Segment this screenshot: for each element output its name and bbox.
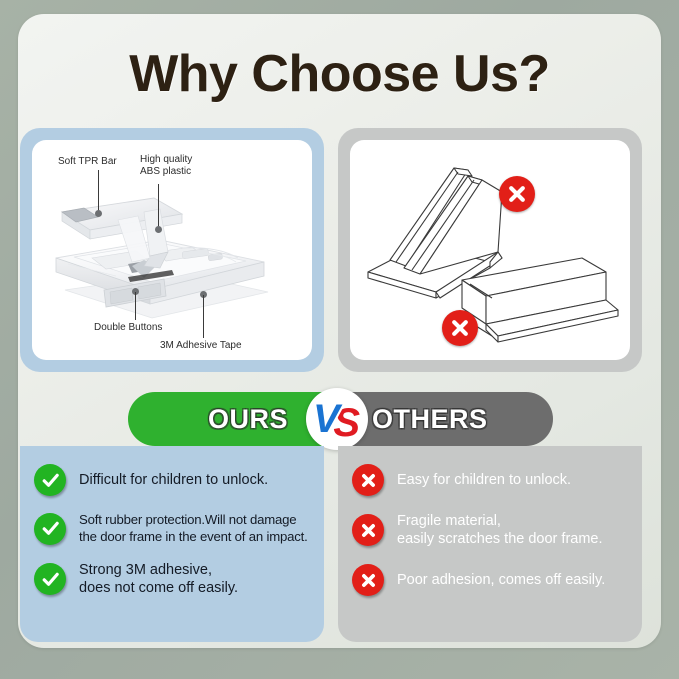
x-circle-icon (352, 464, 384, 496)
list-item: Easy for children to unlock. (338, 464, 642, 496)
list-item-text: Poor adhesion, comes off easily. (397, 571, 605, 589)
list-item-text: Strong 3M adhesive, does not come off ea… (79, 561, 238, 597)
others-product-image-area (350, 140, 630, 360)
ours-pill: OURS (128, 392, 328, 446)
ours-label: OURS (208, 404, 288, 435)
ours-product-panel: Soft TPR Bar High quality ABS plastic Do… (20, 128, 324, 372)
list-item: Strong 3M adhesive, does not come off ea… (20, 561, 324, 597)
list-item: Poor adhesion, comes off easily. (338, 564, 642, 596)
versus-banner: OURS OTHERS V S (18, 392, 661, 446)
callout-abs-plastic-label: High quality ABS plastic (140, 154, 192, 178)
check-glyph (41, 471, 60, 490)
others-product-panel (338, 128, 642, 372)
x-glyph (360, 572, 377, 589)
competitor-illustration (350, 140, 630, 360)
check-circle-icon (34, 464, 66, 496)
page-title: Why Choose Us? (18, 44, 661, 104)
infographic-page: Why Choose Us? (0, 0, 679, 679)
list-item-text: Fragile material, easily scratches the d… (397, 512, 603, 548)
list-item: Fragile material, easily scratches the d… (338, 512, 642, 548)
x-circle-icon (352, 564, 384, 596)
callout-soft-tpr-bar-dot (95, 210, 102, 217)
x-circle-icon (507, 184, 527, 204)
callout-soft-tpr-bar-label: Soft TPR Bar (58, 156, 117, 168)
check-circle-icon (34, 563, 66, 595)
x-glyph (360, 472, 377, 489)
list-item: Difficult for children to unlock. (20, 464, 324, 496)
check-glyph (41, 570, 60, 589)
vs-letter-v: V (313, 399, 340, 439)
x-circle-icon (352, 514, 384, 546)
callout-adhesive-tape-label: 3M Adhesive Tape (160, 340, 242, 352)
list-item-text: Easy for children to unlock. (397, 471, 571, 489)
ours-product-image-area: Soft TPR Bar High quality ABS plastic Do… (32, 140, 312, 360)
reject-badge-lower (442, 310, 478, 346)
check-circle-icon (34, 513, 66, 545)
x-glyph (360, 522, 377, 539)
ours-benefits-list: Difficult for children to unlock. Soft r… (20, 446, 324, 642)
callout-abs-plastic-dot (155, 226, 162, 233)
others-drawbacks-list: Easy for children to unlock. Fragile mat… (338, 446, 642, 642)
callout-double-buttons-label: Double Buttons (94, 322, 162, 334)
x-circle-icon (450, 318, 470, 338)
list-item: Soft rubber protection.Will not damage t… (20, 512, 324, 545)
check-glyph (41, 519, 60, 538)
others-label: OTHERS (372, 404, 488, 435)
list-item-text: Soft rubber protection.Will not damage t… (79, 512, 308, 545)
reject-badge-upper (499, 176, 535, 212)
callout-abs-plastic-leader (158, 184, 159, 228)
callout-soft-tpr-bar-leader (98, 170, 99, 212)
callout-double-buttons-leader (135, 292, 136, 320)
content-card: Why Choose Us? (18, 14, 661, 648)
vs-badge: V S (306, 388, 368, 450)
list-item-text: Difficult for children to unlock. (79, 471, 268, 489)
callout-adhesive-tape-leader (203, 295, 204, 338)
